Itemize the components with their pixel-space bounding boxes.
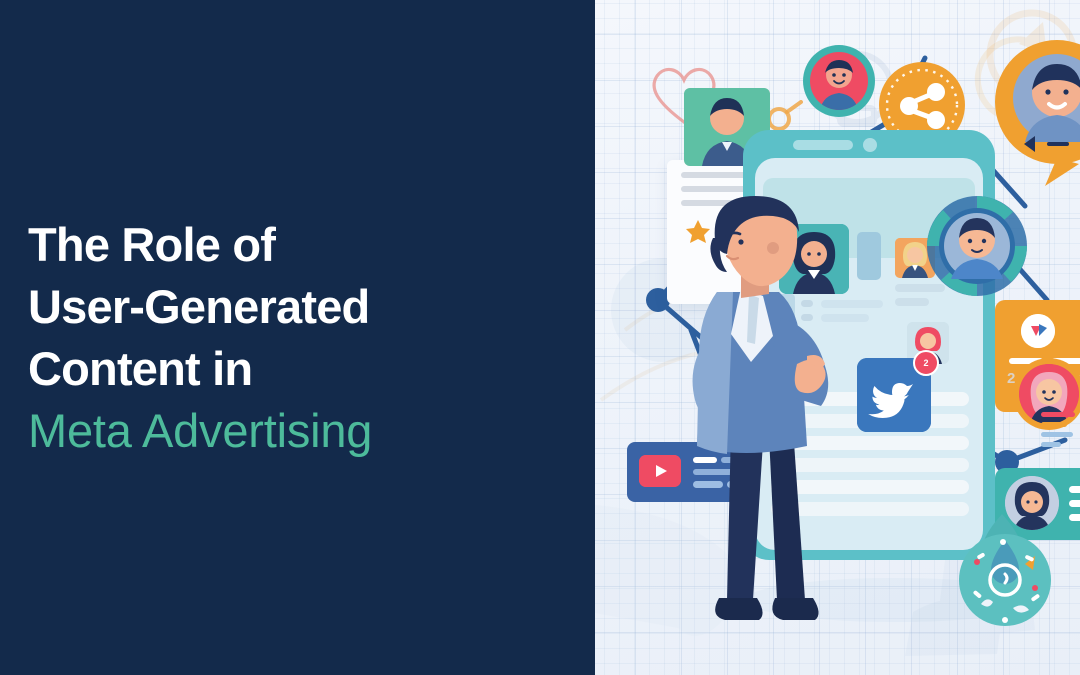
avatar-orange-bubble-man bbox=[995, 40, 1080, 190]
headline-panel: The Role of User-Generated Content in Me… bbox=[0, 0, 595, 675]
page-title: The Role of User-Generated Content in Me… bbox=[28, 214, 568, 462]
search-icon bbox=[765, 98, 805, 134]
phone-speaker bbox=[793, 140, 853, 150]
compass-icon bbox=[947, 512, 1057, 632]
avatar-man-teal-ring bbox=[803, 45, 875, 117]
headline-line-1: The Role of bbox=[28, 214, 568, 276]
avatar-boy-tech-ring bbox=[925, 194, 1029, 298]
bubble-app-icon bbox=[1021, 314, 1055, 348]
businessman-figure bbox=[657, 196, 877, 648]
phone-camera bbox=[863, 138, 877, 152]
headline-line-3: Content in bbox=[28, 338, 568, 400]
headline-line-2: User-Generated bbox=[28, 276, 568, 338]
twitter-badge: 2 bbox=[913, 350, 939, 376]
illustration-panel: 2 bbox=[595, 0, 1080, 675]
mini-chart bbox=[1041, 412, 1079, 452]
headline-line-4: Meta Advertising bbox=[28, 400, 568, 462]
banner-root: The Role of User-Generated Content in Me… bbox=[0, 0, 1080, 675]
